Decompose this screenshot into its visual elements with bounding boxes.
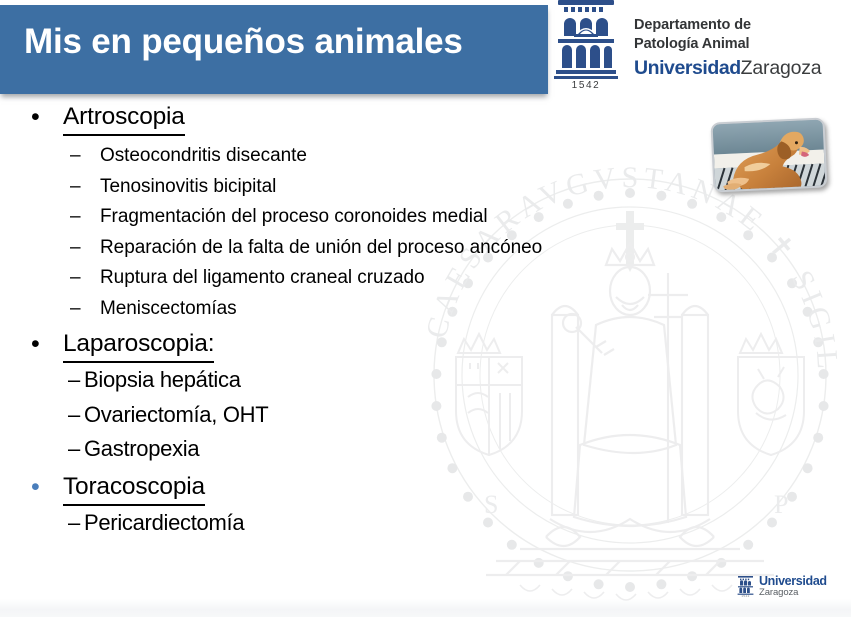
dog-photo — [710, 117, 827, 192]
list-item: – Ruptura del ligamento craneal cruzado — [0, 263, 700, 294]
list-item: – Fragmentación del proceso coronoides m… — [0, 202, 700, 233]
list-item-label: Biopsia hepática — [68, 363, 241, 398]
footer-brand-universidad: Universidad — [759, 575, 827, 588]
department-logo: 1542 Departamento de Patología Animal Un… — [552, 0, 851, 95]
list-item-label: Gastropexia — [68, 432, 199, 467]
outline-group: • Toracoscopia – Pericardiectomía — [0, 470, 700, 541]
bullet-marker: • — [31, 100, 40, 134]
dash-marker: – — [70, 141, 81, 172]
list-item-label: Tenosinovitis bicipital — [100, 176, 276, 197]
department-line-1: Departamento de — [634, 16, 821, 35]
list-item-label: Meniscectomías — [100, 298, 237, 319]
list-item-label: Pericardiectomía — [68, 506, 244, 541]
outline-group: • Laparoscopia: – Biopsia hepática – Ova… — [0, 327, 700, 467]
outline-heading-artroscopia: • Artroscopia — [0, 100, 700, 136]
dash-marker: – — [70, 172, 81, 203]
footer-brand-zaragoza: Zaragoza — [759, 588, 827, 598]
slide-bottom-edge — [0, 599, 851, 617]
brand-lockup: UniversidadZaragoza — [634, 59, 821, 79]
page-title: Mis en pequeños animales — [24, 23, 463, 62]
crest-year-label: 1542 — [572, 80, 601, 88]
outline-heading-toracoscopia: • Toracoscopia — [0, 470, 700, 506]
list-item: – Gastropexia — [0, 432, 700, 467]
department-line-2: Patología Animal — [634, 35, 821, 54]
outline-group: • Artroscopia – Osteocondritis disecante… — [0, 100, 700, 324]
dash-marker: – — [68, 506, 80, 541]
dash-marker: – — [70, 233, 81, 264]
footer-university-logo: 1542 Universidad Zaragoza — [737, 572, 845, 600]
footer-brand-lockup: Universidad Zaragoza — [759, 575, 827, 597]
list-item-label: Fragmentación del proceso coronoides med… — [100, 206, 488, 227]
dash-marker: – — [68, 432, 80, 467]
outline-heading-laparoscopia: • Laparoscopia: — [0, 327, 700, 363]
list-item: – Biopsia hepática — [0, 363, 700, 398]
list-item-label: Ruptura del ligamento craneal cruzado — [100, 267, 425, 288]
brand-universidad: Universidad — [634, 57, 741, 79]
slide-body: • Artroscopia – Osteocondritis disecante… — [0, 100, 700, 540]
list-item: – Tenosinovitis bicipital — [0, 172, 700, 203]
list-item: – Pericardiectomía — [0, 506, 700, 541]
dash-marker: – — [70, 263, 81, 294]
dash-marker: – — [68, 398, 80, 433]
list-item: – Ovariectomía, OHT — [0, 398, 700, 433]
svg-text:1542: 1542 — [741, 594, 749, 597]
list-item-label: Ovariectomía, OHT — [68, 398, 268, 433]
svg-text:P: P — [774, 490, 788, 519]
list-item-label: Reparación de la falta de unión del proc… — [100, 237, 542, 258]
brand-zaragoza: Zaragoza — [741, 57, 822, 79]
slide-title-banner: Mis en pequeños animales — [0, 5, 548, 94]
bullet-marker: • — [31, 470, 40, 504]
university-crest-icon: 1542 — [552, 0, 620, 88]
list-item: – Reparación de la falta de unión del pr… — [0, 233, 700, 264]
dash-marker: – — [68, 363, 80, 398]
university-crest-small-icon: 1542 — [737, 575, 754, 597]
slide-canvas: CAESARAVGVSTANAE ✝ SIGILLVM ✝ STVDII — [0, 0, 851, 617]
list-item: – Osteocondritis disecante — [0, 141, 700, 172]
list-item-label: Osteocondritis disecante — [100, 145, 307, 166]
dash-marker: – — [70, 294, 81, 325]
dash-marker: – — [70, 202, 81, 233]
bullet-marker: • — [31, 327, 40, 361]
outline-heading-label: Laparoscopia: — [63, 327, 214, 363]
list-item: – Meniscectomías — [0, 294, 700, 325]
outline-heading-label: Artroscopia — [63, 100, 185, 136]
outline-heading-label: Toracoscopia — [63, 470, 205, 506]
